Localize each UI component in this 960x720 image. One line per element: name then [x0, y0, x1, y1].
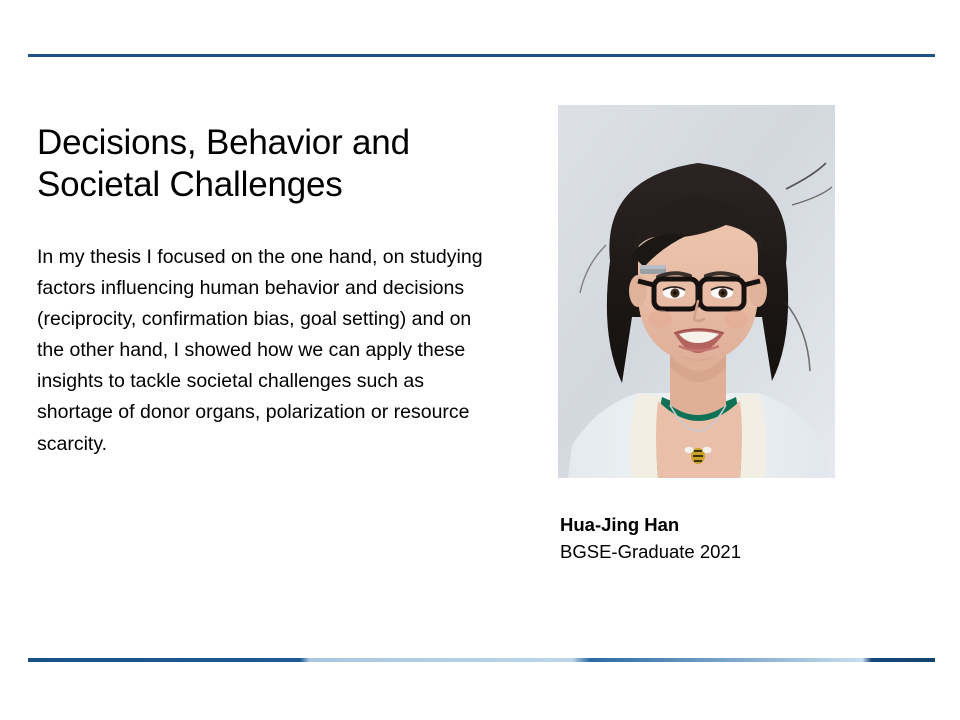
caption-person-name: Hua-Jing Han	[560, 512, 890, 539]
bottom-divider-rule	[28, 658, 935, 662]
page-title: Decisions, Behavior and Societal Challen…	[37, 122, 507, 205]
photo-caption: Hua-Jing Han BGSE-Graduate 2021	[560, 512, 890, 566]
portrait-photo	[558, 105, 835, 478]
caption-person-role: BGSE-Graduate 2021	[560, 539, 890, 566]
slide: Decisions, Behavior and Societal Challen…	[0, 0, 960, 720]
top-divider-rule	[28, 54, 935, 57]
body-paragraph: In my thesis I focused on the one hand, …	[37, 242, 497, 460]
portrait-illustration	[558, 105, 835, 478]
